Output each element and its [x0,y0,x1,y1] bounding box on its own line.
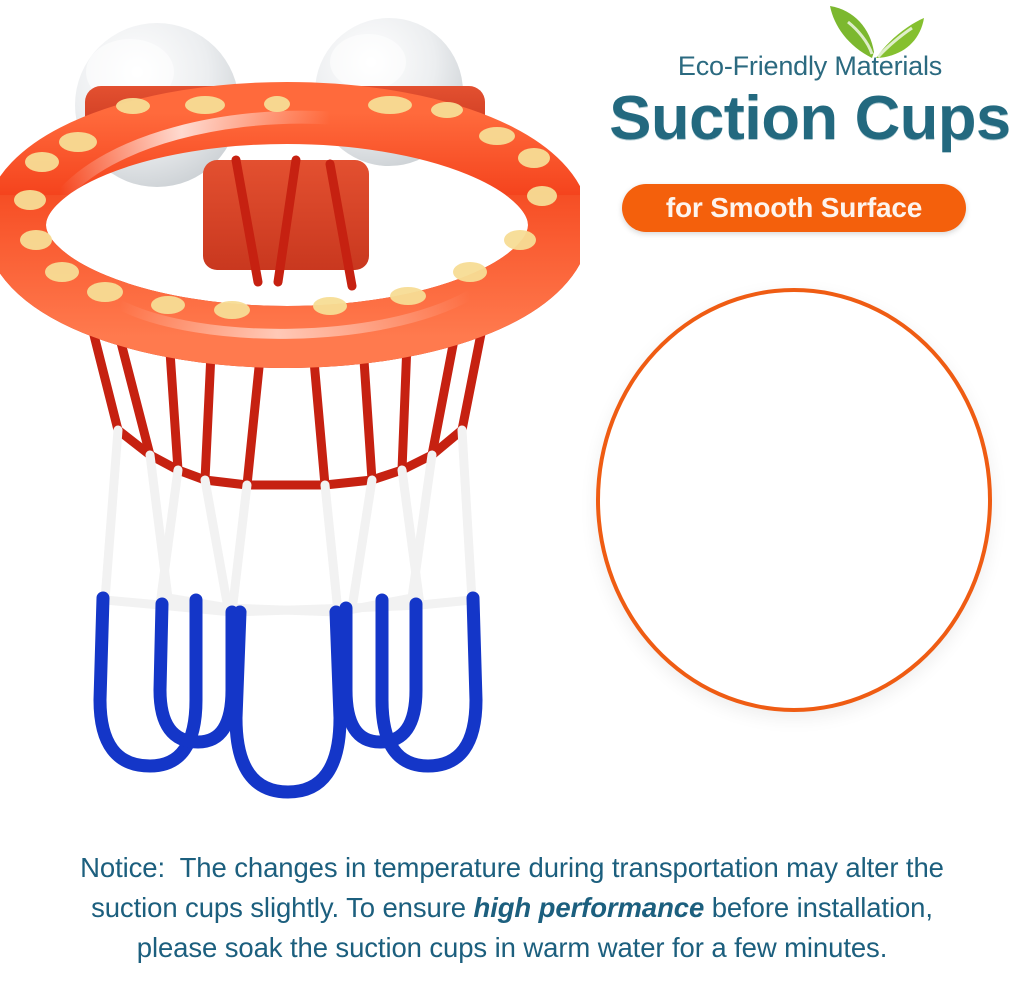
header-block: Eco-Friendly Materials Suction Cups for … [596,0,1024,250]
notice-text: Notice: The changes in temperature durin… [0,848,1024,968]
eco-tagline: Eco-Friendly Materials [596,51,1024,82]
green-leaves-icon [818,2,930,58]
product-infographic-page: Eco-Friendly Materials Suction Cups for … [0,0,1024,999]
product-hero-image [0,0,580,820]
suction-cup-closeup-callout [596,288,992,712]
notice-line-2-prefix: suction cups slightly. To ensure [91,892,473,923]
basketball-hoop-illustration [0,0,580,820]
notice-line-2: suction cups slightly. To ensure high pe… [0,888,1024,928]
badge-wrap: for Smooth Surface [622,184,966,232]
net-loops-blue [100,598,476,792]
notice-line-1: Notice: The changes in temperature durin… [0,848,1024,888]
notice-emphasis: high performance [474,892,705,923]
notice-line-2-suffix: before installation, [704,892,933,923]
notice-line-3: please soak the suction cups in warm wat… [0,928,1024,968]
page-title: Suction Cups [592,84,1024,154]
smooth-surface-badge[interactable]: for Smooth Surface [622,184,966,232]
callout-ring-border [596,288,992,712]
